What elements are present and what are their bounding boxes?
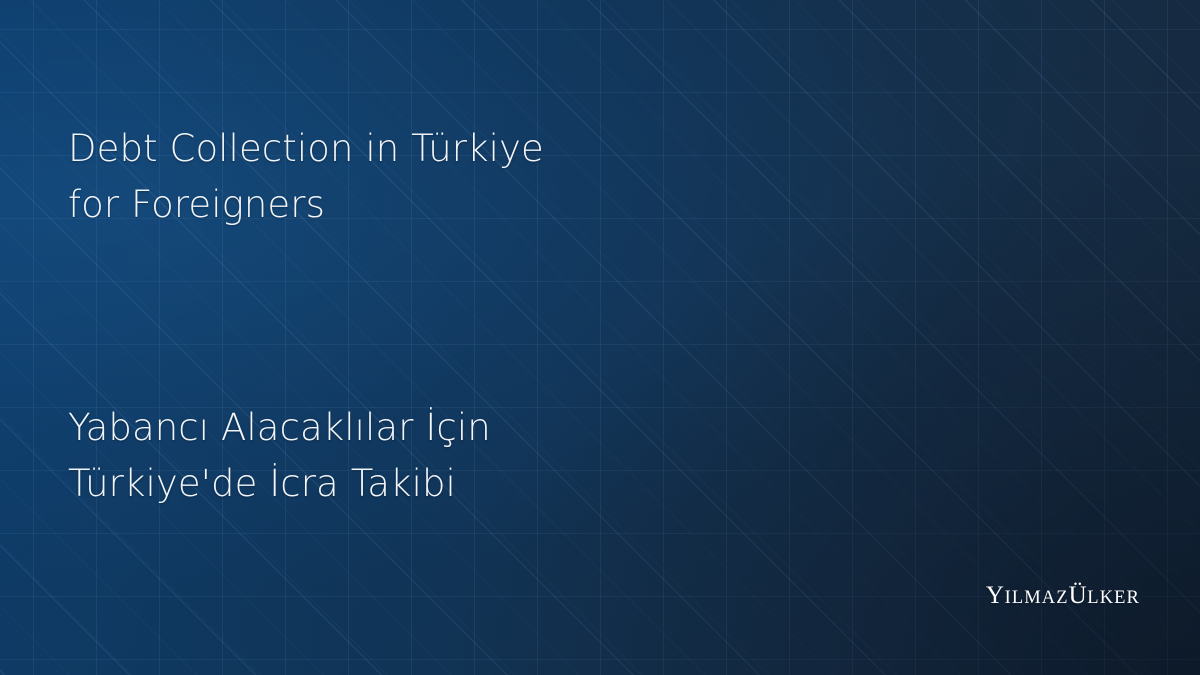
logo-initial-u: Ü	[1069, 582, 1088, 609]
slide-title-english: Debt Collection in Türkiye for Foreigner…	[68, 121, 544, 233]
company-logo: YILMAZÜLKER	[986, 583, 1140, 608]
slide-content: Debt Collection in Türkiye for Foreigner…	[0, 0, 1200, 675]
title-block: Debt Collection in Türkiye for Foreigner…	[68, 121, 544, 233]
logo-text-ilmaz: ILMAZ	[1005, 588, 1069, 608]
logo-initial-y: Y	[986, 582, 1005, 609]
slide-title-turkish: Yabancı Alacaklılar İçin Türkiye'de İcra…	[68, 400, 491, 512]
logo-text-lker: LKER	[1087, 588, 1140, 608]
subtitle-block: Yabancı Alacaklılar İçin Türkiye'de İcra…	[68, 400, 491, 512]
title-slide: Debt Collection in Türkiye for Foreigner…	[0, 0, 1200, 675]
